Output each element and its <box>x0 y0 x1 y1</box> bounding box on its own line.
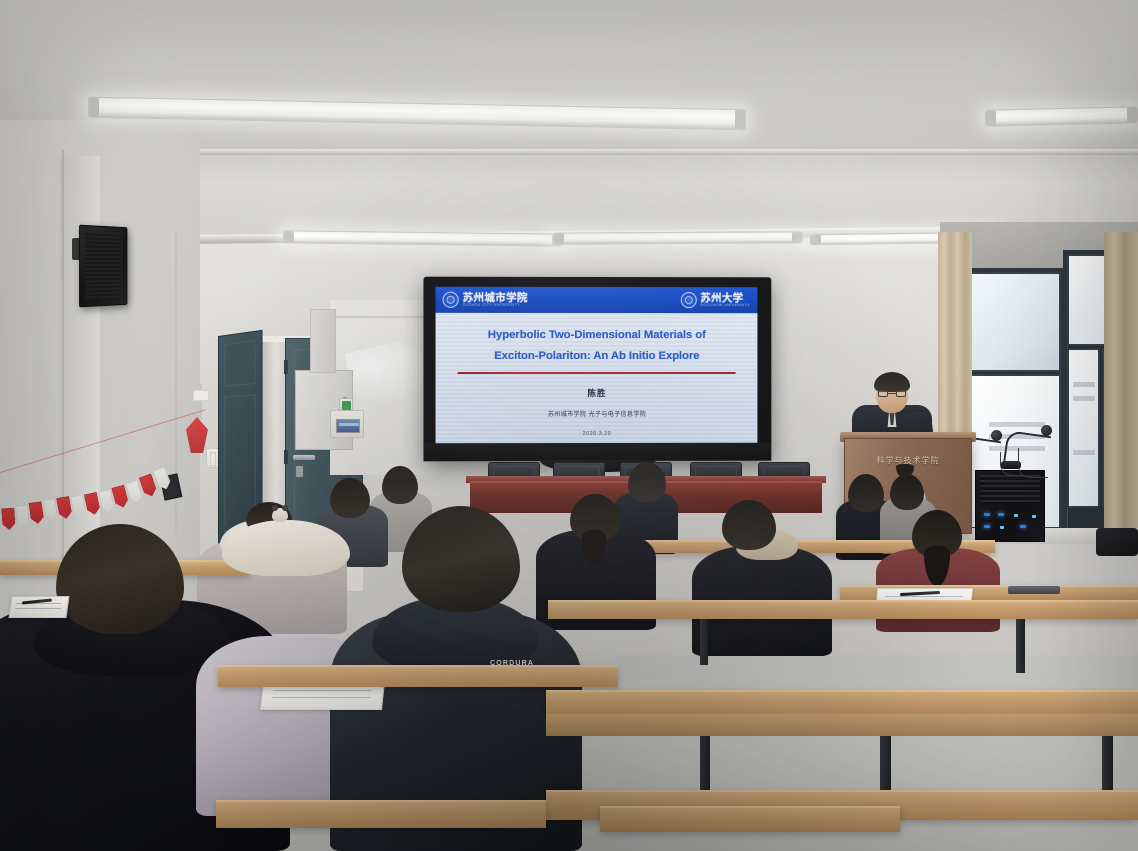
soffit-edge <box>60 149 1138 155</box>
desk-leg <box>700 736 710 798</box>
ceiling-tube-light-2 <box>985 106 1138 126</box>
logo-suzhou-city-university: 苏州城市学院 SUZHOU CITY UNIVERSITY <box>443 292 528 308</box>
logo-right-en: SOOCHOW UNIVERSITY <box>700 304 750 307</box>
presentation-display[interactable]: 苏州城市学院 SUZHOU CITY UNIVERSITY 苏州大学 SOOCH… <box>423 277 771 462</box>
display-screen: 苏州城市学院 SUZHOU CITY UNIVERSITY 苏州大学 SOOCH… <box>436 287 758 444</box>
wall-speaker-icon <box>79 225 127 308</box>
bench-back-mid <box>600 806 900 832</box>
university-seal-icon <box>443 292 459 308</box>
slide-affiliation: 苏州城市学院 光子与电子信息学院 <box>452 409 742 418</box>
lecture-hall-photo: 苏州城市学院 SUZHOU CITY UNIVERSITY 苏州大学 SOOCH… <box>0 0 1138 851</box>
display-bezel-bottom <box>423 443 771 462</box>
logo-right-cn: 苏州大学 <box>700 293 750 304</box>
laptop <box>1008 586 1060 594</box>
university-seal-icon <box>680 292 696 308</box>
slide-date: 2026.3.20 <box>452 431 742 437</box>
slide-body: Hyperbolic Two-Dimensional Materials of … <box>436 313 758 443</box>
logo-left-cn: 苏州城市学院 <box>463 292 528 303</box>
ceiling-tube-light-4 <box>553 231 803 244</box>
door-hinge-top <box>284 360 288 374</box>
door-handle[interactable] <box>293 455 315 460</box>
desk-leg <box>700 619 708 665</box>
av-equipment-rack[interactable] <box>975 470 1045 542</box>
microphone-icon <box>1041 425 1052 436</box>
wall-control-panel[interactable] <box>330 410 364 438</box>
slide-title-line-1: Hyperbolic Two-Dimensional Materials of <box>452 325 742 346</box>
slide-header: 苏州城市学院 SUZHOU CITY UNIVERSITY 苏州大学 SOOCH… <box>436 287 758 313</box>
curtain-right[interactable] <box>1104 232 1138 552</box>
control-panel-screen[interactable] <box>336 419 360 433</box>
slide-title-line-2: Exciton-Polariton: An Ab Initio Explore <box>452 346 742 367</box>
logo-soochow-university: 苏州大学 SOOCHOW UNIVERSITY <box>680 292 750 308</box>
glasses-icon <box>878 390 906 397</box>
desk-front-panel <box>546 714 1138 736</box>
door-lock-icon[interactable] <box>296 466 303 477</box>
title-slide: 苏州城市学院 SUZHOU CITY UNIVERSITY 苏州大学 SOOCH… <box>436 287 758 444</box>
logo-left-en: SUZHOU CITY UNIVERSITY <box>463 304 528 307</box>
desk-leg <box>1016 619 1025 673</box>
desk-row-3 <box>548 600 1138 619</box>
microphone-icon <box>991 430 1002 441</box>
backpack <box>1096 528 1138 556</box>
desk-row-2 <box>218 665 618 687</box>
title-divider <box>458 372 736 374</box>
slide-author: 陈胜 <box>452 387 742 399</box>
cable <box>1018 448 1048 478</box>
desk-row-1 <box>546 690 1138 716</box>
bench-back-left <box>216 800 546 828</box>
plush-toy <box>272 508 288 522</box>
door-hinge-mid <box>284 450 288 464</box>
